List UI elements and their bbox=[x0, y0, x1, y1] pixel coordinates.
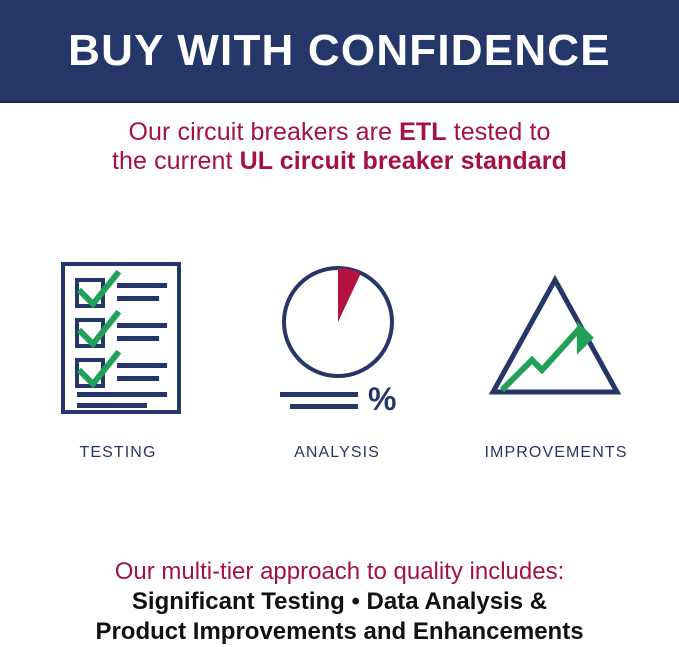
infographic-page: BUY WITH CONFIDENCE Our circuit breakers… bbox=[0, 0, 679, 643]
growth-triangle-icon bbox=[455, 250, 655, 425]
icon-labels: TESTING ANALYSIS IMPROVEMENTS bbox=[0, 444, 679, 468]
footer-text: Our multi-tier approach to quality inclu… bbox=[0, 557, 679, 647]
subtitle-line-2: the current UL circuit breaker standard bbox=[0, 147, 679, 176]
subtitle-line2-part1: the current bbox=[112, 147, 240, 175]
icon-label-analysis: ANALYSIS bbox=[237, 444, 437, 462]
subtitle-text: Our circuit breakers are ETL tested to t… bbox=[0, 118, 679, 176]
subtitle-line1-part2: tested to bbox=[447, 118, 551, 146]
subtitle-etl-emphasis: ETL bbox=[399, 118, 447, 146]
icon-label-improvements: IMPROVEMENTS bbox=[456, 444, 656, 462]
page-title: BUY WITH CONFIDENCE bbox=[68, 29, 611, 73]
icon-row: % bbox=[0, 250, 679, 425]
icon-label-testing: TESTING bbox=[18, 444, 218, 462]
percent-symbol: % bbox=[368, 381, 396, 417]
subtitle-line1-part1: Our circuit breakers are bbox=[128, 118, 399, 146]
header-banner: BUY WITH CONFIDENCE bbox=[0, 0, 679, 103]
pie-chart-icon: % bbox=[238, 250, 438, 425]
footer-line-2: Significant Testing • Data Analysis & bbox=[0, 587, 679, 617]
checklist-icon bbox=[25, 250, 225, 425]
subtitle-ul-emphasis: UL circuit breaker standard bbox=[240, 147, 567, 175]
subtitle-line-1: Our circuit breakers are ETL tested to bbox=[0, 118, 679, 147]
footer-lead-line: Our multi-tier approach to quality inclu… bbox=[0, 557, 679, 587]
